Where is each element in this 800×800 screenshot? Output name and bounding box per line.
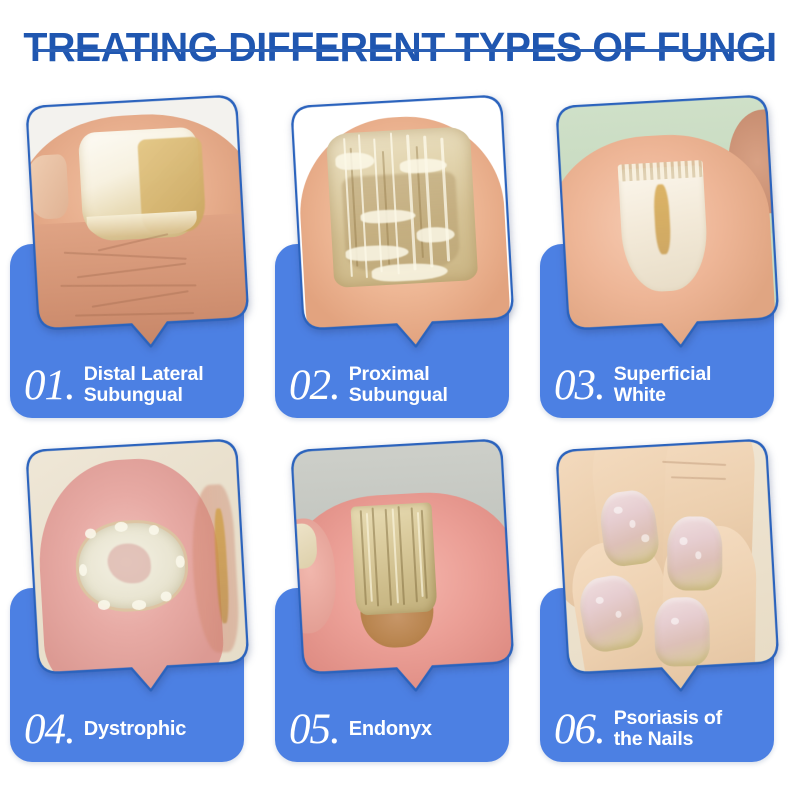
- photo-clip-05: [290, 438, 516, 697]
- photo-image-05: [290, 438, 516, 697]
- fungi-card-06[interactable]: 06. Psoriasis of the Nails: [536, 440, 794, 780]
- photo-bubble-04[interactable]: [25, 438, 251, 697]
- photo-clip-02: [290, 94, 516, 353]
- card-label-line2-06: the Nails: [614, 729, 722, 750]
- card-label-03: Superficial White: [614, 364, 712, 407]
- fungi-card-03[interactable]: 03. Superficial White: [536, 96, 794, 436]
- page-title: TREATING DIFFERENT TYPES OF FUNGI: [16, 26, 784, 69]
- card-label-line1-03: Superficial: [614, 364, 712, 385]
- fungi-card-01[interactable]: 01. Distal Lateral Subungual: [6, 96, 264, 436]
- card-label-line1-06: Psoriasis of: [614, 708, 722, 729]
- card-number-02: 02.: [289, 364, 340, 407]
- card-number-03: 03.: [554, 364, 605, 407]
- photo-bubble-03[interactable]: [555, 94, 781, 353]
- card-label-02: Proximal Subungual: [349, 364, 448, 407]
- card-caption-01: 01. Distal Lateral Subungual: [10, 352, 244, 418]
- card-label-05: Endonyx: [349, 718, 432, 740]
- photo-image-06: [555, 438, 781, 697]
- card-label-line2-02: Subungual: [349, 385, 448, 406]
- photo-bubble-05[interactable]: [290, 438, 516, 697]
- card-caption-03: 03. Superficial White: [540, 352, 774, 418]
- photo-clip-03: [555, 94, 781, 353]
- card-number-04: 04.: [24, 708, 75, 751]
- title-underline-divider: [36, 49, 770, 52]
- fungi-type-grid: 01. Distal Lateral Subungual: [0, 96, 800, 780]
- fungi-card-04[interactable]: 04. Dystrophic: [6, 440, 264, 780]
- photo-bubble-02[interactable]: [290, 94, 516, 353]
- card-label-line2-03: White: [614, 385, 712, 406]
- photo-bubble-01[interactable]: [25, 94, 251, 353]
- photo-clip-06: [555, 438, 781, 697]
- photo-clip-01: [25, 94, 251, 353]
- card-label-line1-02: Proximal: [349, 364, 448, 385]
- photo-clip-04: [25, 438, 251, 697]
- card-label-04: Dystrophic: [84, 718, 186, 740]
- infographic-poster: TREATING DIFFERENT TYPES OF FUNGI: [0, 0, 800, 800]
- card-caption-04: 04. Dystrophic: [10, 696, 244, 762]
- card-caption-02: 02. Proximal Subungual: [275, 352, 509, 418]
- photo-image-04: [25, 438, 251, 697]
- card-number-06: 06.: [554, 708, 605, 751]
- card-label-01: Distal Lateral Subungual: [84, 364, 204, 407]
- fungi-card-05[interactable]: 05. Endonyx: [271, 440, 529, 780]
- card-label-line2-01: Subungual: [84, 385, 204, 406]
- card-caption-05: 05. Endonyx: [275, 696, 509, 762]
- photo-image-02: [290, 94, 516, 353]
- card-label-06: Psoriasis of the Nails: [614, 708, 722, 751]
- fungi-card-02[interactable]: 02. Proximal Subungual: [271, 96, 529, 436]
- card-label-line1-01: Distal Lateral: [84, 364, 204, 385]
- photo-image-03: [555, 94, 781, 353]
- card-caption-06: 06. Psoriasis of the Nails: [540, 696, 774, 762]
- card-number-01: 01.: [24, 364, 75, 407]
- photo-bubble-06[interactable]: [555, 438, 781, 697]
- photo-image-01: [25, 94, 251, 353]
- poster-header: TREATING DIFFERENT TYPES OF FUNGI: [0, 26, 800, 69]
- card-number-05: 05.: [289, 708, 340, 751]
